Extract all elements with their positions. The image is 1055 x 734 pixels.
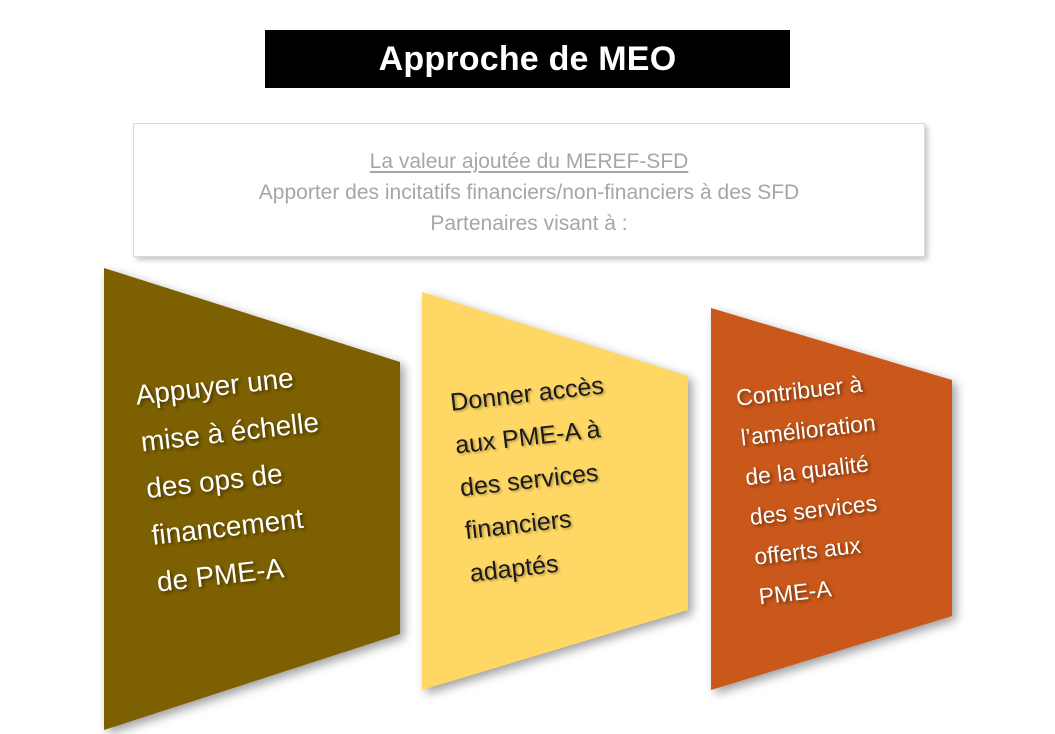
subtitle-line-2: Apporter des incitatifs financiers/non-f… [259,177,799,208]
slide-title-bar: Approche de MEO [265,30,790,88]
arrow-shape-appuyer [100,262,405,734]
arrow-shape-donner-acces [418,286,693,694]
arrow-shape-3-icon [707,302,957,694]
subtitle-heading: La valeur ajoutée du MEREF-SFD [370,146,689,177]
arrow-shape-1-icon [100,262,405,734]
arrow-shape-contribuer [707,302,957,694]
subtitle-panel: La valeur ajoutée du MEREF-SFD Apporter … [133,123,925,257]
slide-canvas: Approche de MEO La valeur ajoutée du MER… [0,0,1055,734]
page-title: Approche de MEO [379,40,677,79]
subtitle-line-3: Partenaires visant à : [430,208,627,239]
arrow-shape-2-icon [418,286,693,694]
